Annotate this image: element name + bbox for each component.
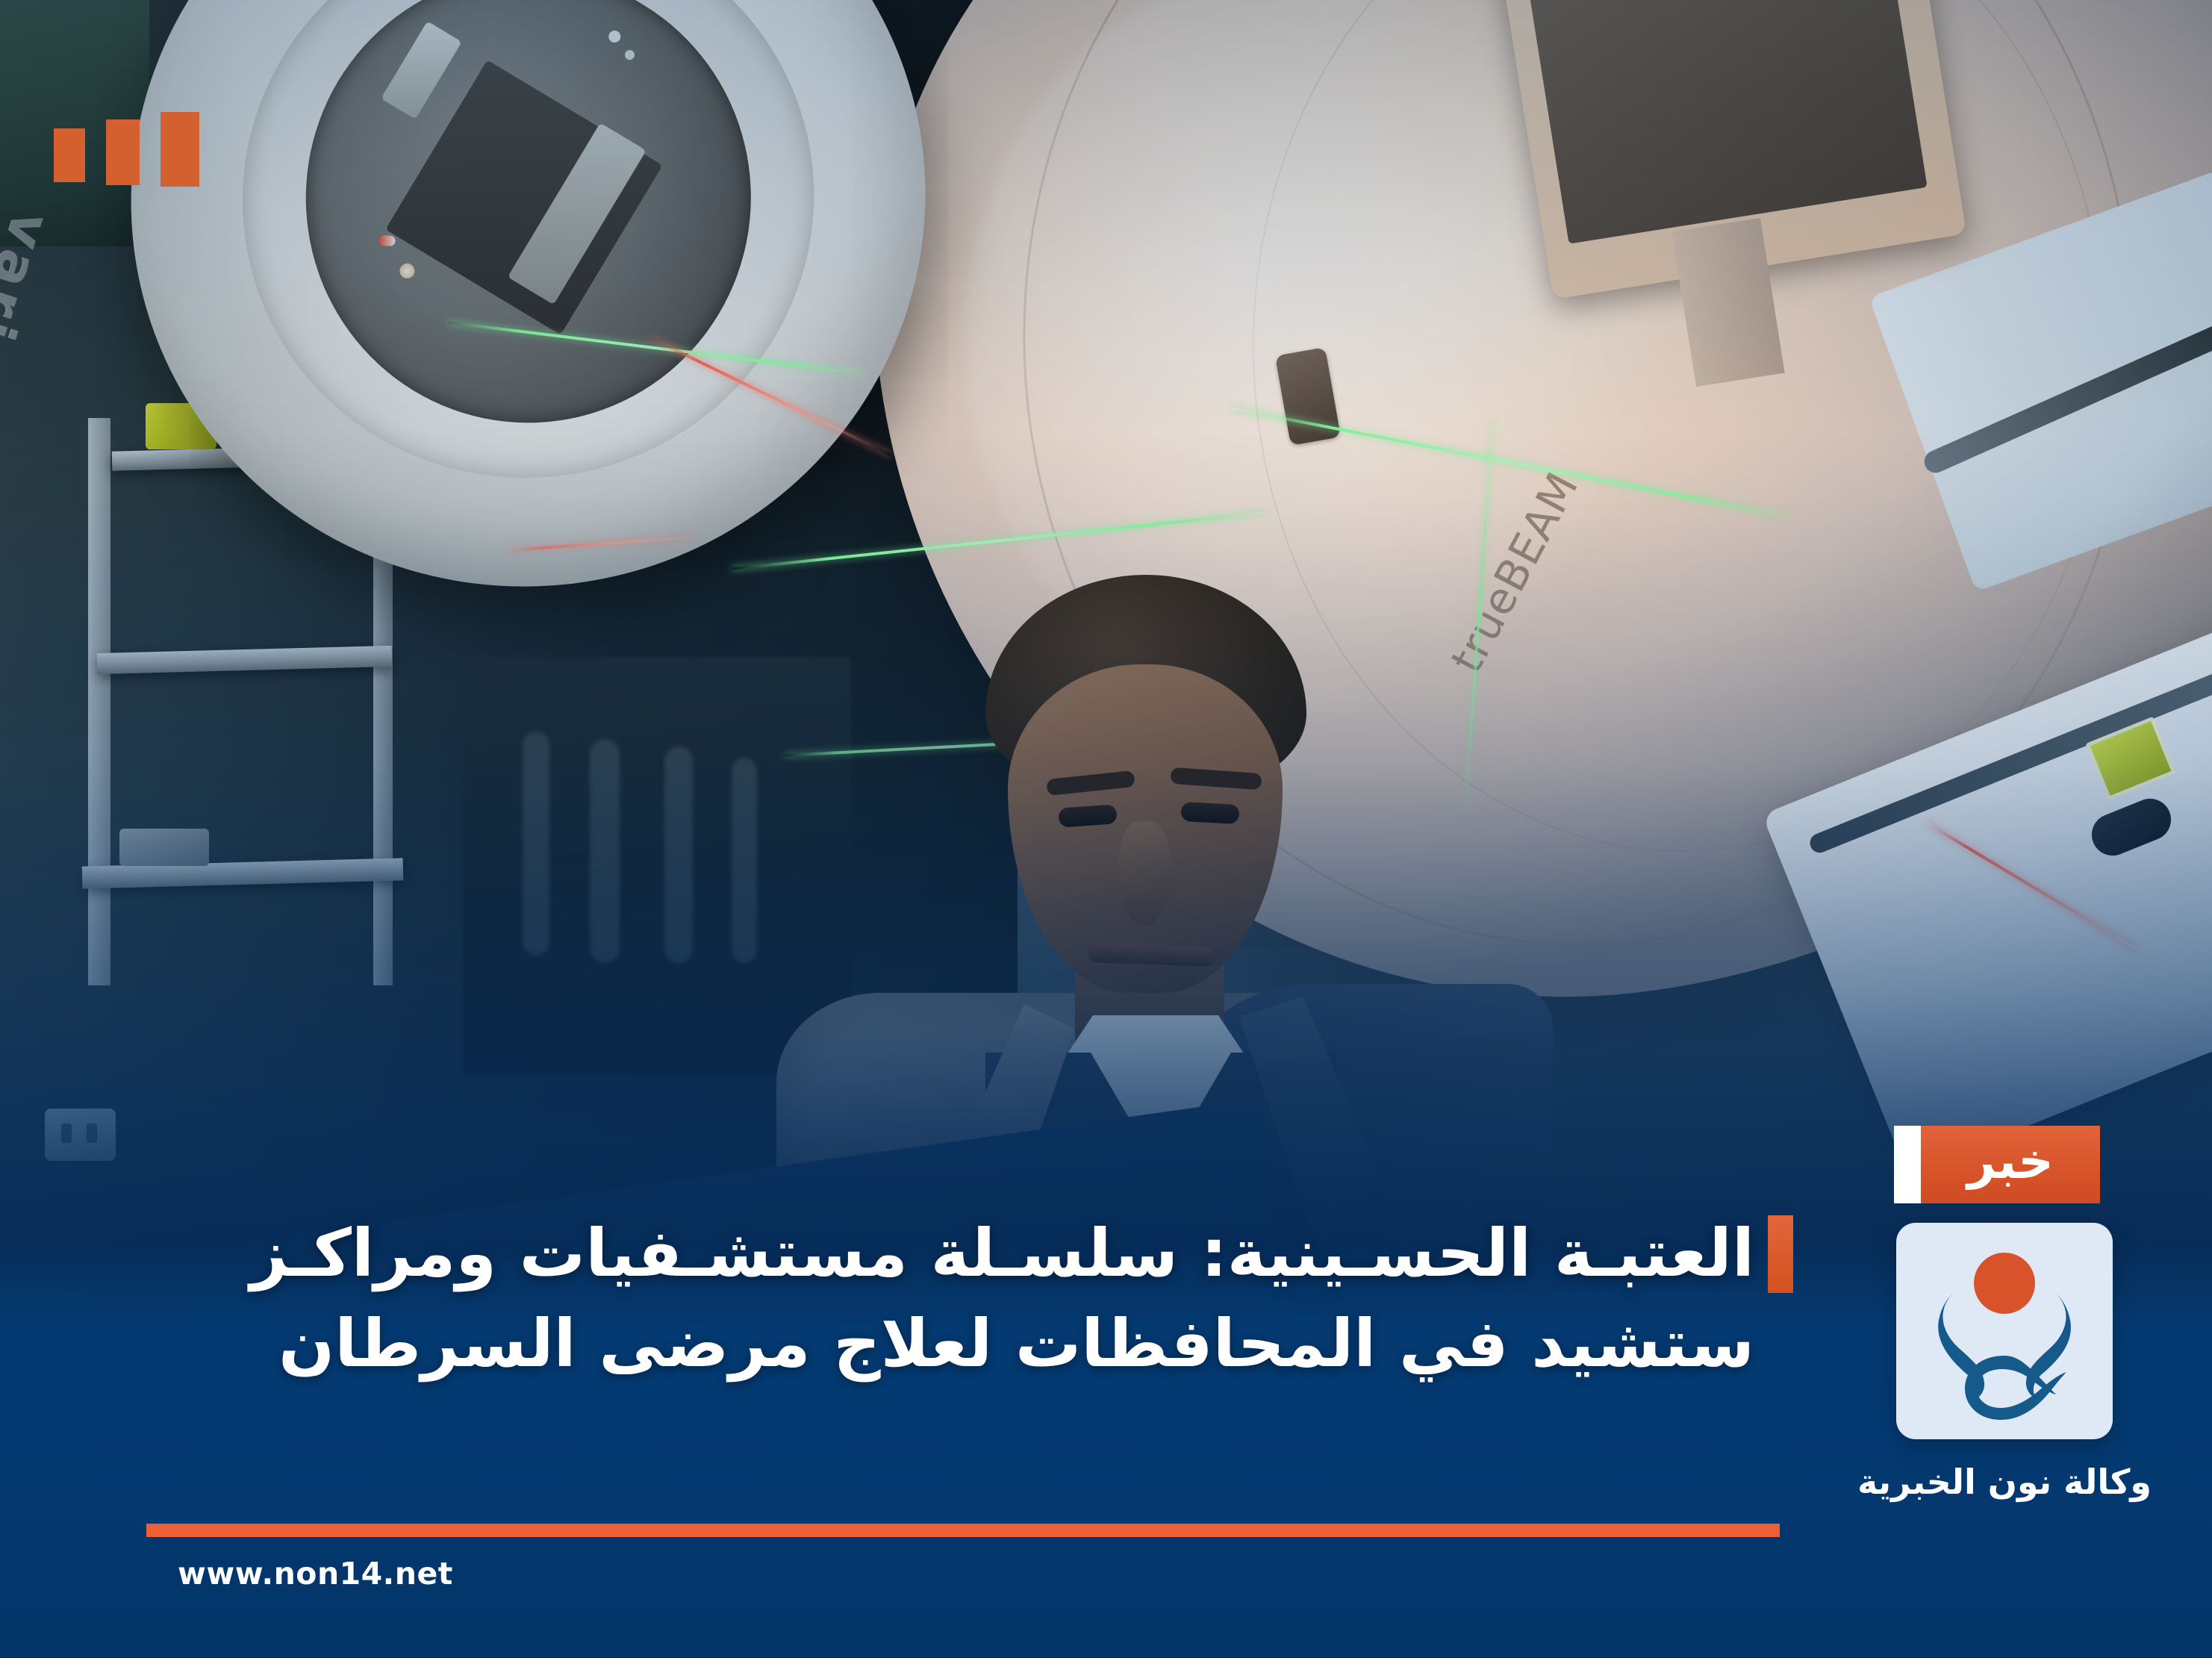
logo-bar-2	[106, 119, 140, 185]
news-card: trueBEAM varian	[0, 0, 2212, 1658]
headline-line-2: ستشيد في المحافظات لعلاج مرضى السرطان	[112, 1298, 1754, 1389]
orange-divider	[146, 1524, 1780, 1537]
bottom-blue-gradient	[0, 0, 2212, 1658]
headline-accent-bar	[1768, 1215, 1793, 1293]
logo-bar-1	[161, 112, 199, 187]
corner-logo-bars	[54, 112, 199, 187]
news-badge-tick	[1894, 1126, 1921, 1203]
agency-logo-card	[1896, 1223, 2113, 1439]
agency-name: وكالة نون الخبرية	[1814, 1462, 2195, 1502]
news-badge-label: خبر	[1921, 1126, 2100, 1203]
logo-bar-3	[54, 128, 85, 182]
headline: العتبـة الحسـينية: سلسـلة مستشـفيات ومرا…	[112, 1208, 1754, 1389]
site-url: www.non14.net	[178, 1556, 453, 1592]
headline-line-1: العتبـة الحسـينية: سلسـلة مستشـفيات ومرا…	[112, 1208, 1754, 1298]
news-badge: خبر	[1894, 1126, 2100, 1203]
logo-embrace-icon	[1896, 1223, 2113, 1439]
